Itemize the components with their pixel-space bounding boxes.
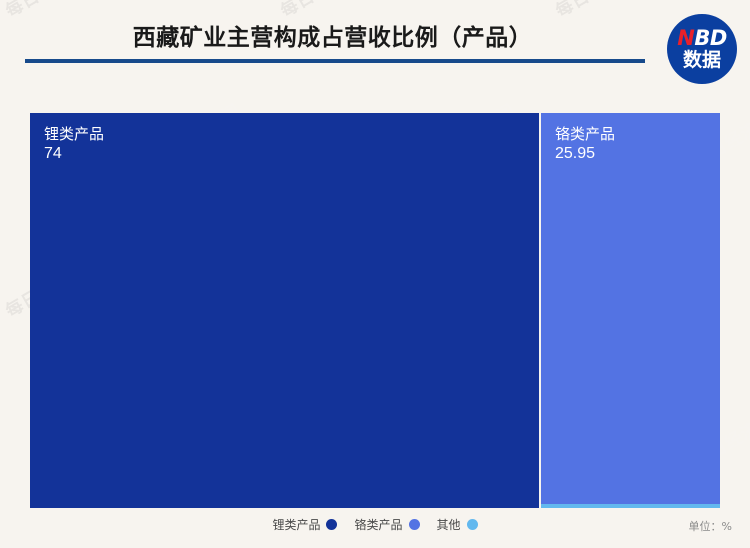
legend-item-label: 锂类产品 [272, 516, 320, 533]
treemap-tile-other[interactable] [541, 504, 720, 508]
legend-item-label: 其他 [437, 516, 461, 533]
legend-item-label: 铬类产品 [354, 516, 402, 533]
chart-legend: 锂类产品 铬类产品 其他 [0, 516, 750, 533]
title-underline-rule [25, 59, 645, 63]
legend-swatch-icon [409, 519, 420, 530]
legend-item-other[interactable]: 其他 [437, 516, 478, 533]
legend-item-lithium[interactable]: 锂类产品 [272, 516, 337, 533]
legend-item-chrome[interactable]: 铬类产品 [354, 516, 419, 533]
treemap-tile-label: 锂类产品 [44, 124, 104, 144]
treemap-tile-chrome[interactable]: 铬类产品 25.95 [541, 113, 720, 504]
unit-note: 单位：% [689, 518, 732, 534]
legend-swatch-icon [467, 519, 478, 530]
page-title: 西藏矿业主营构成占营收比例（产品） [0, 18, 665, 52]
treemap-chart: 锂类产品 74 铬类产品 25.95 [30, 113, 720, 508]
treemap-tile-lithium[interactable]: 锂类产品 74 [30, 113, 539, 508]
treemap-tile-value: 74 [44, 144, 62, 164]
treemap-tile-label: 铬类产品 [555, 124, 615, 144]
legend-swatch-icon [326, 519, 337, 530]
treemap-tile-value: 25.95 [555, 144, 595, 164]
chart-header: 西藏矿业主营构成占营收比例（产品） [0, 0, 750, 100]
chart-footer: 锂类产品 铬类产品 其他 单位：% [0, 516, 750, 548]
